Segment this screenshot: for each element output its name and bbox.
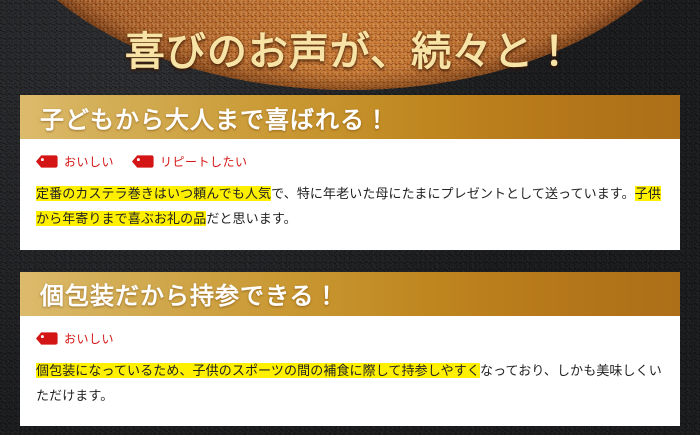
tag-label: おいしい [64, 330, 114, 347]
testimonial-card: 子どもから大人まで喜ばれる！おいしいリピートしたい定番のカステラ巻きはいつ頼んで… [20, 95, 680, 250]
page-title: 喜びのお声が、続々と！ [0, 19, 700, 77]
review-plain: で、特に年老いた母にたまにプレゼントとして送っています。 [271, 186, 635, 201]
review-tag[interactable]: おいしい [36, 330, 114, 347]
tag-row: おいしい [36, 330, 664, 347]
tag-label: おいしい [64, 153, 114, 170]
tag-icon [36, 155, 58, 168]
testimonials-page: 喜びのお声が、続々と！ 子どもから大人まで喜ばれる！おいしいリピートしたい定番の… [0, 0, 700, 435]
card-header: 子どもから大人まで喜ばれる！ [20, 95, 680, 139]
card-body: おいしいリピートしたい定番のカステラ巻きはいつ頼んでも人気で、特に年老いた母にた… [20, 139, 680, 250]
tag-row: おいしいリピートしたい [36, 153, 664, 170]
review-text: 定番のカステラ巻きはいつ頼んでも人気で、特に年老いた母にたまにプレゼントとして送… [36, 181, 664, 232]
tag-icon [36, 332, 58, 345]
review-tag[interactable]: おいしい [36, 153, 114, 170]
review-plain: だと思います。 [206, 211, 296, 226]
tag-label: リピートしたい [160, 153, 248, 170]
review-highlight: 定番のカステラ巻きはいつ頼んでも人気 [36, 186, 271, 201]
card-body: おいしい個包装になっているため、子供のスポーツの間の補食に際して持参しやすくなっ… [20, 316, 680, 427]
testimonial-card: 個包装だから持参できる！おいしい個包装になっているため、子供のスポーツの間の補食… [20, 272, 680, 427]
review-highlight: 個包装になっているため、子供のスポーツの間の補食に際して持参しやすく [36, 363, 480, 378]
tag-icon [132, 155, 154, 168]
review-text: 個包装になっているため、子供のスポーツの間の補食に際して持参しやすくなっており、… [36, 358, 664, 409]
review-tag[interactable]: リピートしたい [132, 153, 248, 170]
testimonial-card-list: 子どもから大人まで喜ばれる！おいしいリピートしたい定番のカステラ巻きはいつ頼んで… [20, 95, 680, 435]
card-header: 個包装だから持参できる！ [20, 272, 680, 316]
